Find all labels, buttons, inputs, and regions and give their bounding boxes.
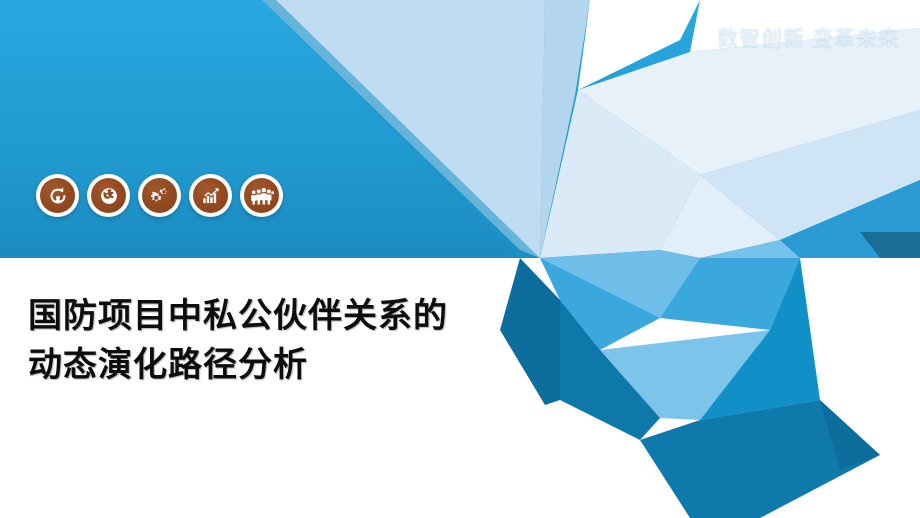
refresh-cycle-icon	[40, 178, 75, 213]
icon-badge-refresh-cycle[interactable]	[36, 174, 79, 217]
icon-badge-gears[interactable]	[138, 174, 181, 217]
people-group-icon	[244, 178, 279, 213]
globe-icon	[91, 178, 126, 213]
presentation-slide: 数智创新 变革未来	[0, 0, 920, 518]
icon-badge-people-group[interactable]	[240, 174, 283, 217]
slide-tagline: 数智创新 变革未来	[717, 22, 900, 52]
icon-row	[36, 174, 283, 217]
page-title-line-2: 动态演化路径分析	[28, 341, 568, 390]
page-title-line-1: 国防项目中私公伙伴关系的	[28, 292, 568, 341]
page-title: 国防项目中私公伙伴关系的 动态演化路径分析	[28, 292, 568, 391]
icon-badge-globe[interactable]	[87, 174, 130, 217]
gears-icon	[142, 178, 177, 213]
bar-chart-icon	[193, 178, 228, 213]
low-poly-decoration	[0, 0, 920, 518]
icon-badge-bar-chart[interactable]	[189, 174, 232, 217]
